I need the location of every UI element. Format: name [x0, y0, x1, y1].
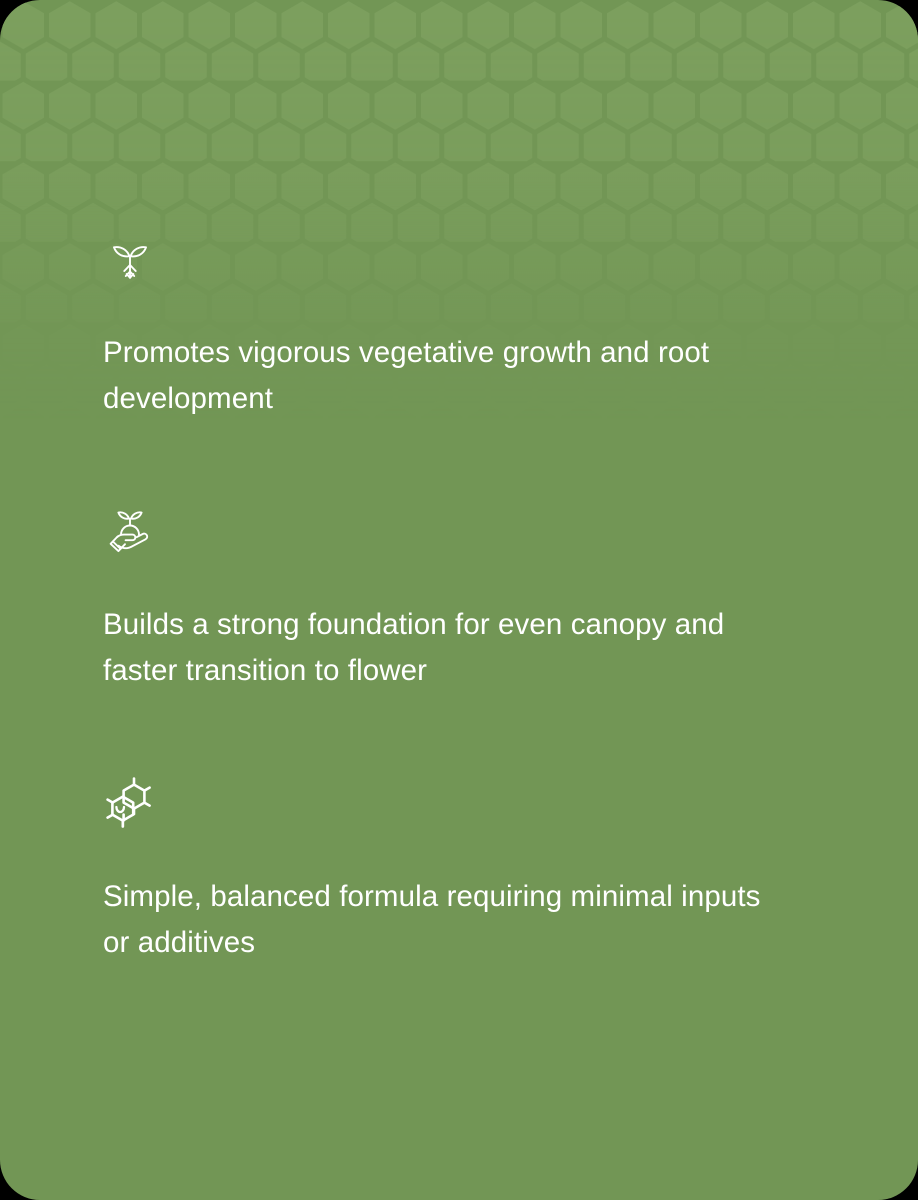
benefit-text: Simple, balanced formula requiring minim…	[103, 874, 768, 966]
hand-holding-seedling-icon	[103, 504, 157, 558]
benefit-item: Builds a strong foundation for even cano…	[103, 504, 815, 694]
benefit-item: Promotes vigorous vegetative growth and …	[103, 232, 815, 422]
benefit-text: Promotes vigorous vegetative growth and …	[103, 330, 768, 422]
molecule-icon	[103, 776, 157, 830]
benefit-item: Simple, balanced formula requiring minim…	[103, 776, 815, 966]
sprout-icon	[103, 232, 157, 286]
product-benefits-card: Promotes vigorous vegetative growth and …	[0, 0, 918, 1200]
benefit-list: Promotes vigorous vegetative growth and …	[0, 0, 918, 1200]
benefit-text: Builds a strong foundation for even cano…	[103, 602, 768, 694]
